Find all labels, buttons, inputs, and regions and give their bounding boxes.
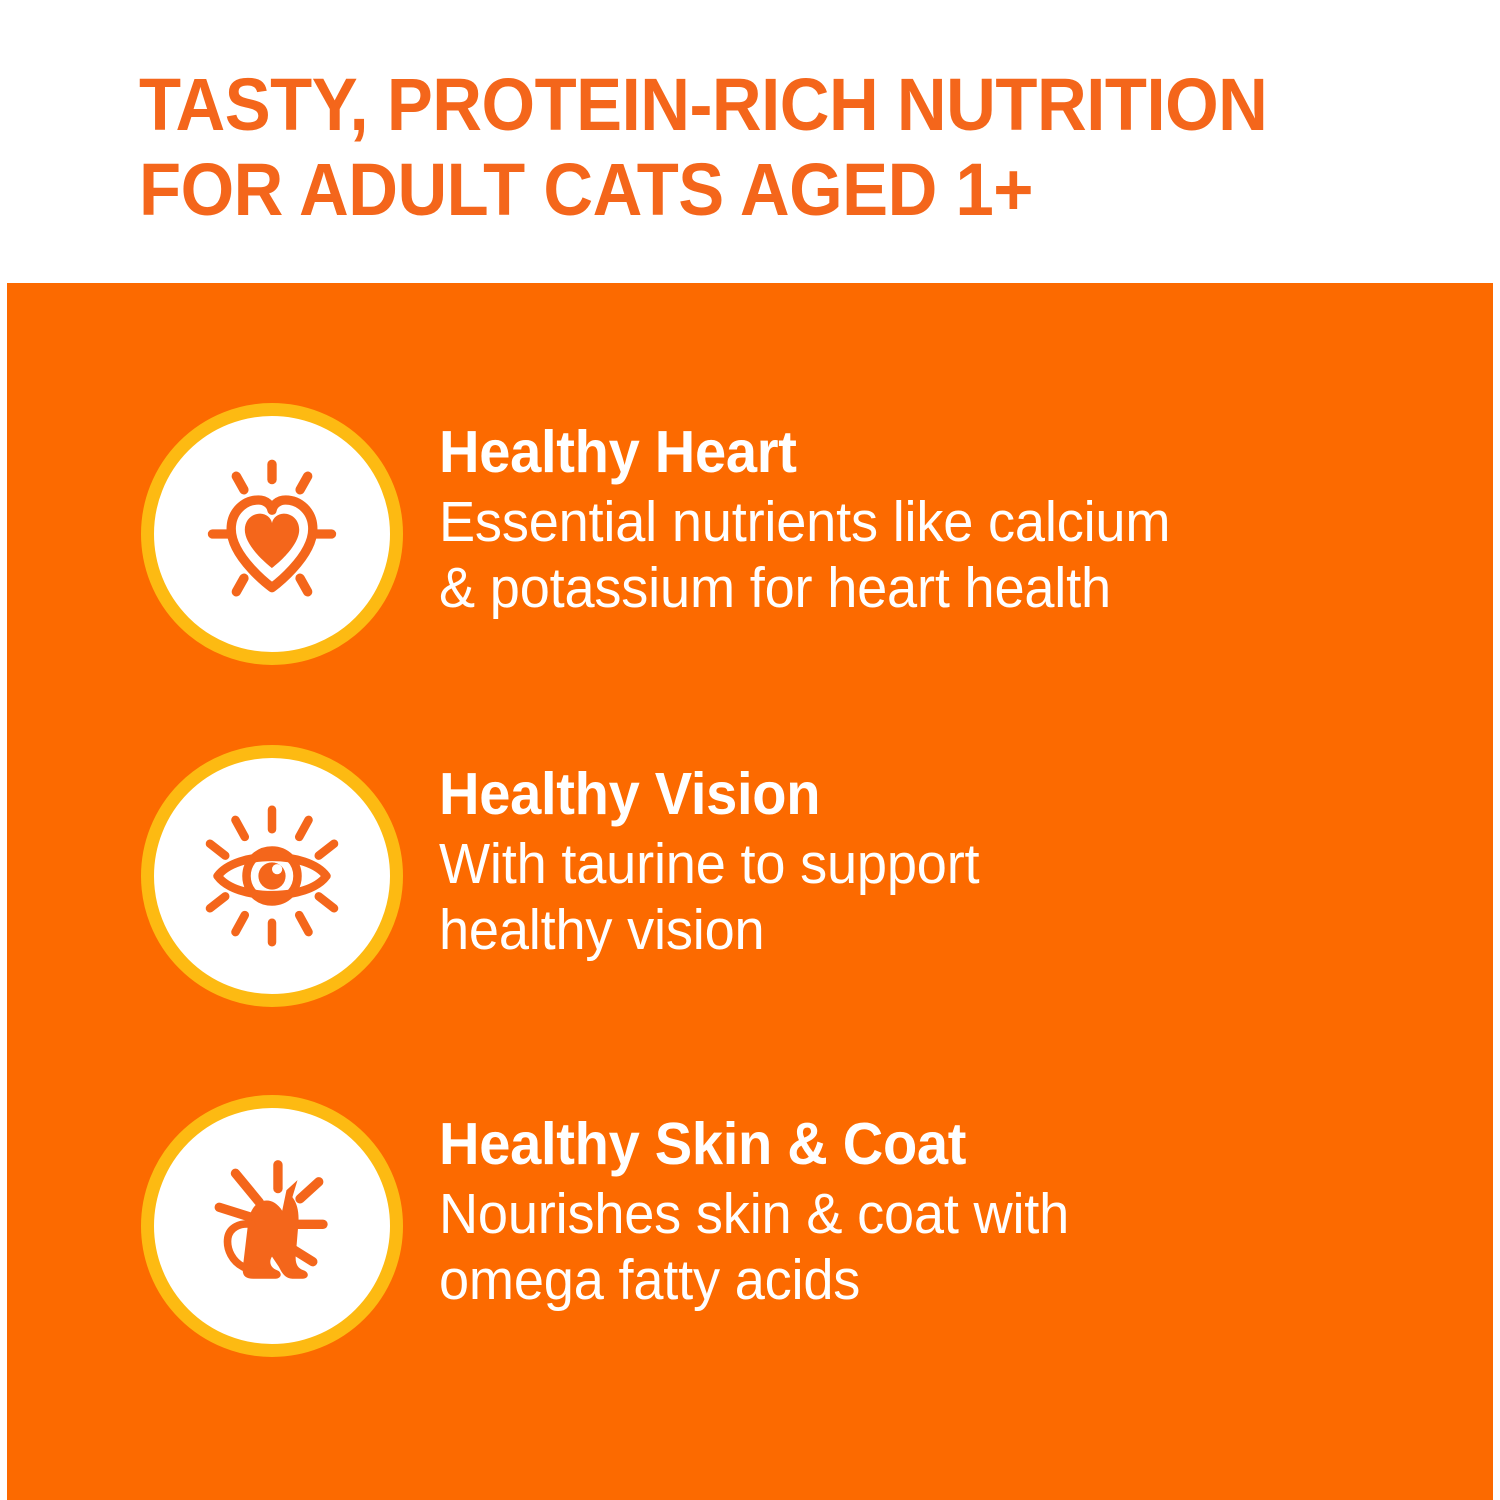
benefit-icon-badge <box>141 745 403 1007</box>
benefit-icon-badge <box>141 403 403 665</box>
benefits-panel: Healthy Heart Essential nutrients like c… <box>7 283 1493 1500</box>
product-benefits-poster: TASTY, PROTEIN-RICH NUTRITION FOR ADULT … <box>0 0 1500 1500</box>
benefit-description: With taurine to support healthy vision <box>439 831 1351 963</box>
benefit-heading: Healthy Skin & Coat <box>439 1111 1351 1177</box>
benefit-text-block: Healthy Skin & Coat Nourishes skin & coa… <box>439 1111 1399 1313</box>
radiant-heart-icon <box>187 449 357 619</box>
pupil-highlight <box>272 864 282 874</box>
pupil <box>258 862 285 889</box>
benefit-text-block: Healthy Heart Essential nutrients like c… <box>439 419 1399 621</box>
benefit-text-block: Healthy Vision With taurine to support h… <box>439 761 1399 963</box>
benefit-item-healthy-vision: Healthy Vision With taurine to support h… <box>7 745 1493 1045</box>
benefit-description: Nourishes skin & coat with omega fatty a… <box>439 1181 1351 1313</box>
benefit-heading: Healthy Heart <box>439 419 1351 485</box>
benefit-heading: Healthy Vision <box>439 761 1351 827</box>
benefit-description: Essential nutrients like calcium & potas… <box>439 489 1351 621</box>
benefit-item-healthy-heart: Healthy Heart Essential nutrients like c… <box>7 403 1493 703</box>
radiant-cat-icon <box>187 1141 357 1311</box>
page-title: TASTY, PROTEIN-RICH NUTRITION FOR ADULT … <box>139 62 1339 232</box>
radiant-eye-icon <box>187 791 357 961</box>
header-band: TASTY, PROTEIN-RICH NUTRITION FOR ADULT … <box>0 0 1500 283</box>
heart-solid <box>245 514 299 568</box>
benefit-item-healthy-skin-and-coat: Healthy Skin & Coat Nourishes skin & coa… <box>7 1095 1493 1395</box>
benefit-icon-badge <box>141 1095 403 1357</box>
